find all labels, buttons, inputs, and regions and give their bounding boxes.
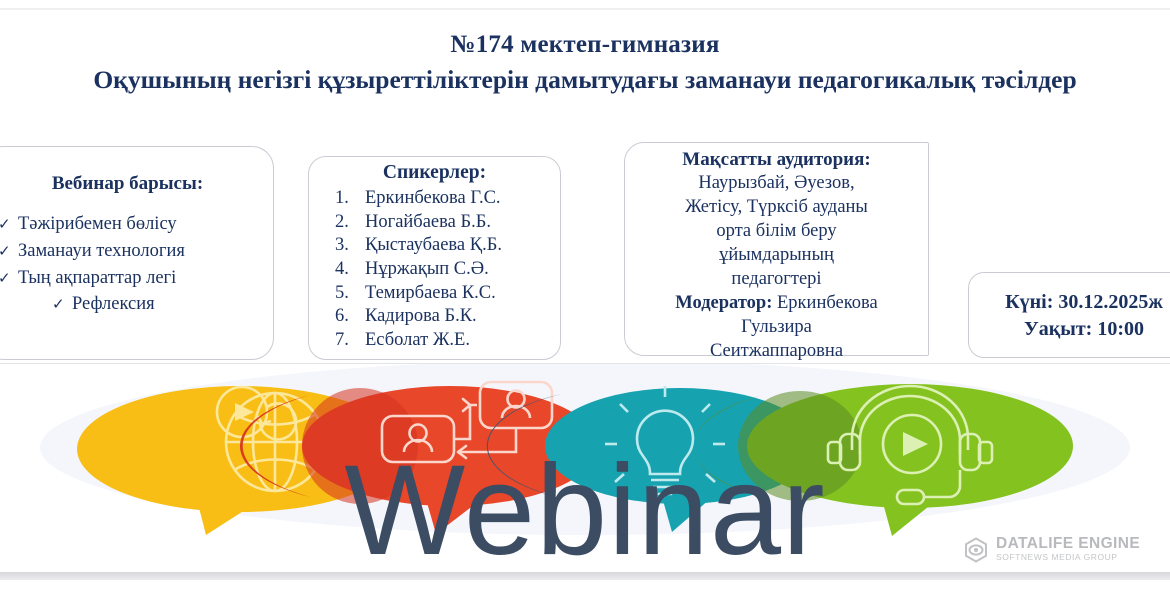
poster-title: №174 мектеп-гимназия	[0, 30, 1170, 61]
moderator-name-second: Гульзира	[635, 315, 918, 339]
check-icon: ✓	[52, 294, 72, 316]
speaker-name: Нұржақып С.Ә.	[365, 258, 489, 282]
speaker-number: 5.	[335, 282, 365, 306]
audience-line: Наурызбай, Әуезов,	[635, 171, 918, 195]
agenda-list: ✓ Тәжірибемен бөлісу ✓ Заманауи технолог…	[0, 211, 273, 318]
speaker-item: 7. Есболат Ж.Е.	[335, 329, 560, 353]
audience-heading: Мақсатты аудитория:	[635, 149, 918, 171]
agenda-item-label: Рефлексия	[72, 291, 155, 318]
agenda-box: Вебинар барысы: ✓ Тәжірибемен бөлісу ✓ З…	[0, 146, 274, 360]
moderator-name-third: Сеитжаппаровна	[635, 339, 918, 363]
speaker-item: 4. Нұржақып С.Ә.	[335, 258, 560, 282]
speaker-number: 7.	[335, 329, 365, 353]
poster-subtitle: Оқушының негізгі құзыреттіліктерін дамыт…	[0, 64, 1170, 96]
speaker-name: Еркинбекова Г.С.	[365, 187, 501, 211]
audience-line: Жетісу, Түрксіб ауданы	[635, 195, 918, 219]
schedule-box: Күні: 30.12.2025ж Уақыт: 10:00	[968, 272, 1170, 358]
agenda-item: ✓ Тәжірибемен бөлісу	[0, 211, 273, 238]
audience-line: педагогтері	[635, 267, 918, 291]
event-time: Уақыт: 10:00	[969, 316, 1170, 343]
poster-heading-block: №174 мектеп-гимназия Оқушының негізгі құ…	[0, 30, 1170, 95]
datalife-watermark: DATALIFE ENGINE SOFTNEWS MEDIA GROUP	[963, 536, 1140, 563]
agenda-item-label: Заманауи технология	[18, 238, 185, 265]
moderator-name-first: Еркинбекова	[777, 293, 878, 313]
speaker-number: 4.	[335, 258, 365, 282]
webinar-poster: №174 мектеп-гимназия Оқушының негізгі құ…	[0, 0, 1170, 594]
event-date: Күні: 30.12.2025ж	[969, 289, 1170, 316]
datalife-logo-icon	[963, 537, 989, 563]
speaker-item: 1. Еркинбекова Г.С.	[335, 187, 560, 211]
speakers-box: Спикерлер: 1. Еркинбекова Г.С. 2. Ногайб…	[308, 156, 561, 360]
agenda-item-label: Тәжірибемен бөлісу	[18, 211, 177, 238]
speakers-heading: Спикерлер:	[309, 162, 560, 184]
watermark-subtitle: SOFTNEWS MEDIA GROUP	[996, 552, 1140, 563]
speaker-item: 6. Кадирова Б.К.	[335, 305, 560, 329]
check-icon: ✓	[0, 268, 18, 290]
speaker-item: 3. Қыстаубаева Қ.Б.	[335, 234, 560, 258]
check-icon: ✓	[0, 241, 18, 263]
bottom-divider	[0, 572, 1170, 580]
speaker-number: 3.	[335, 234, 365, 258]
speaker-number: 6.	[335, 305, 365, 329]
moderator-label: Модератор:	[675, 293, 772, 313]
audience-box: Мақсатты аудитория: Наурызбай, Әуезов, Ж…	[624, 142, 929, 356]
speaker-name: Кадирова Б.К.	[365, 305, 477, 329]
speaker-name: Ногайбаева Б.Б.	[365, 211, 491, 235]
speaker-name: Темирбаева К.С.	[365, 282, 496, 306]
bottom-spacer	[0, 580, 1170, 594]
speakers-list: 1. Еркинбекова Г.С. 2. Ногайбаева Б.Б. 3…	[309, 187, 560, 353]
speaker-name: Қыстаубаева Қ.Б.	[365, 234, 502, 258]
agenda-heading: Вебинар барысы:	[0, 173, 273, 195]
check-icon: ✓	[0, 214, 18, 236]
top-divider	[0, 8, 1170, 10]
webinar-wordmark: Webinar	[344, 439, 825, 572]
agenda-item: ✓ Рефлексия	[0, 291, 273, 318]
speaker-number: 1.	[335, 187, 365, 211]
agenda-item-label: Тың ақпараттар легі	[18, 265, 176, 292]
speaker-name: Есболат Ж.Е.	[365, 329, 470, 353]
watermark-title: DATALIFE ENGINE	[996, 536, 1140, 552]
agenda-item: ✓ Заманауи технология	[0, 238, 273, 265]
speaker-item: 2. Ногайбаева Б.Б.	[335, 211, 560, 235]
agenda-item: ✓ Тың ақпараттар легі	[0, 265, 273, 292]
audience-line: орта білім беру	[635, 219, 918, 243]
speaker-item: 5. Темирбаева К.С.	[335, 282, 560, 306]
audience-line: ұйымдарының	[635, 243, 918, 267]
speaker-number: 2.	[335, 211, 365, 235]
moderator-row: Модератор: Еркинбекова	[635, 291, 918, 315]
